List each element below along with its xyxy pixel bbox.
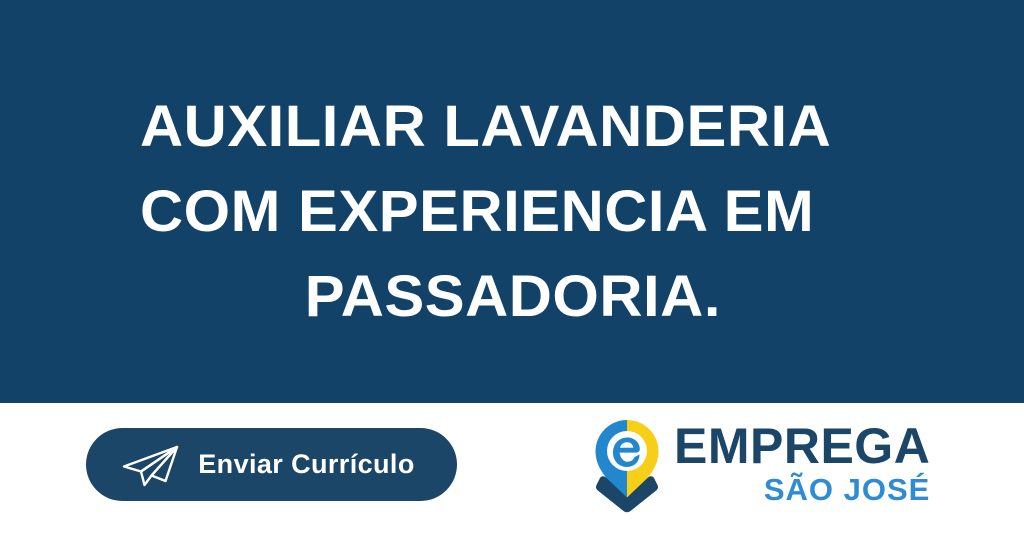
title-line-1: AUXILIAR LAVANDERIA [140, 84, 1024, 169]
brand-city: SÃO JOSÉ [764, 473, 931, 507]
brand-name: EMPREGA [674, 420, 930, 472]
brand-wordmark: EMPREGA SÃO JOSÉ [674, 418, 930, 507]
title-line-3: PASSADORIA. [140, 254, 1024, 339]
job-ad-banner: AUXILIAR LAVANDERIA COM EXPERIENCIA EM P… [0, 0, 1024, 536]
location-pin-icon [588, 418, 666, 514]
brand-logo: EMPREGA SÃO JOSÉ [588, 418, 928, 518]
page-title: AUXILIAR LAVANDERIA COM EXPERIENCIA EM P… [140, 84, 1024, 339]
send-resume-label: Enviar Currículo [198, 449, 414, 480]
send-resume-button[interactable]: Enviar Currículo [86, 428, 457, 501]
hero-background: AUXILIAR LAVANDERIA COM EXPERIENCIA EM P… [0, 0, 1024, 403]
title-line-2: COM EXPERIENCIA EM [140, 169, 1024, 254]
paper-plane-icon [120, 444, 182, 488]
